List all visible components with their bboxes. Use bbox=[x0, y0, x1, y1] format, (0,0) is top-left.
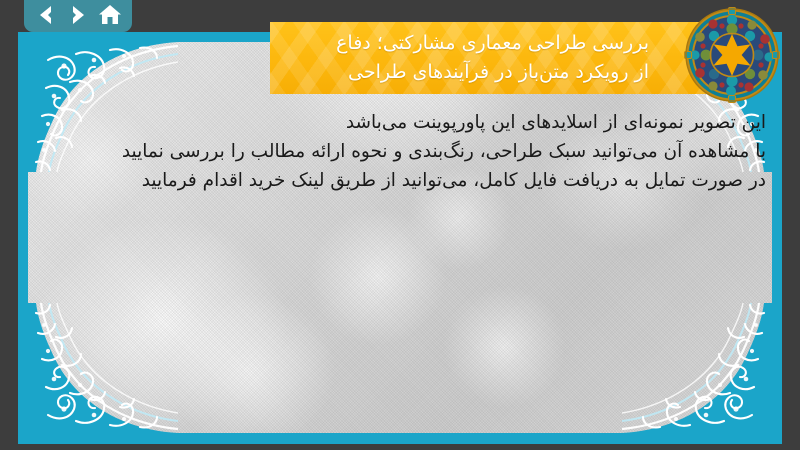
islamic-medallion-icon bbox=[683, 6, 781, 104]
slide-title-line-2: از رویکرد متن‌باز در فرآیندهای طراحی bbox=[348, 58, 649, 87]
home-button[interactable] bbox=[97, 3, 123, 27]
slide-title-banner: بررسی طراحی معماری مشارکتی؛ دفاع از رویک… bbox=[270, 22, 725, 94]
next-slide-button[interactable] bbox=[65, 3, 91, 27]
slide-canvas bbox=[28, 42, 772, 433]
slide-title-line-1: بررسی طراحی معماری مشارکتی؛ دفاع bbox=[336, 29, 649, 58]
slide-viewer: بررسی طراحی معماری مشارکتی؛ دفاع از رویک… bbox=[0, 0, 800, 450]
previous-slide-button[interactable] bbox=[33, 3, 59, 27]
body-line-1: این تصویر نمونه‌ای از اسلایدهای این پاور… bbox=[120, 108, 766, 137]
ornament-corner-bottom-left bbox=[28, 303, 178, 433]
background-texture bbox=[28, 42, 772, 433]
slide-body-text: این تصویر نمونه‌ای از اسلایدهای این پاور… bbox=[120, 108, 766, 196]
body-line-2: با مشاهده آن می‌توانید سبک طراحی، رنگ‌بن… bbox=[120, 137, 766, 166]
ornament-corner-bottom-right bbox=[622, 303, 772, 433]
slide-navigation-bar bbox=[24, 0, 132, 32]
body-line-3: در صورت تمایل به دریافت فایل کامل، می‌تو… bbox=[120, 166, 766, 195]
